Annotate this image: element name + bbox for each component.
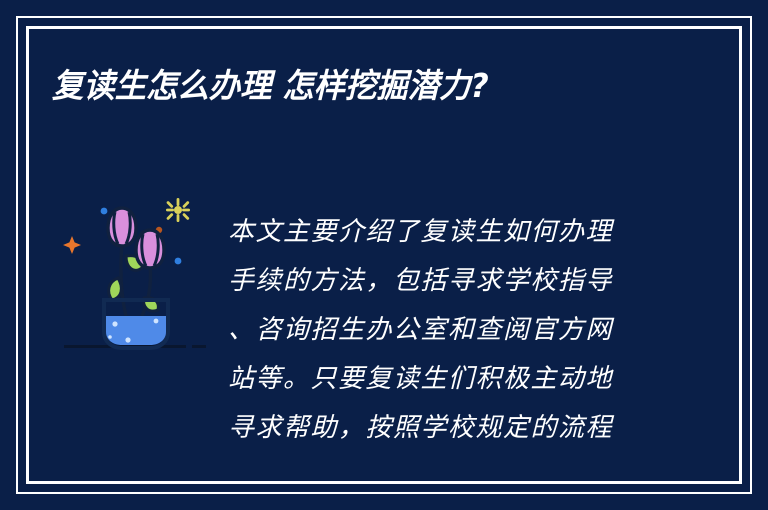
star-orange-icon	[63, 236, 81, 254]
body-line: 本文主要介绍了复读生如何办理	[228, 208, 658, 257]
page-title: 复读生怎么办理 怎样挖掘潜力?	[52, 66, 679, 106]
flowers-in-vase-illustration	[58, 188, 228, 373]
tulip-flower-icon	[136, 230, 164, 268]
body-line: 站等。只要复读生们积极主动地	[228, 355, 658, 404]
body-line: 寻求帮助，按照学校规定的流程	[228, 404, 658, 453]
sparkle-burst-icon	[166, 198, 190, 222]
tulip-flower-icon	[108, 208, 136, 246]
body-line: 手续的方法，包括寻求学校指导	[228, 257, 658, 306]
body-paragraph: 本文主要介绍了复读生如何办理 手续的方法，包括寻求学校指导 、咨询招生办公室和查…	[228, 208, 658, 453]
poster-canvas: 复读生怎么办理 怎样挖掘潜力?	[0, 0, 768, 510]
body-line: 、咨询招生办公室和查阅官方网	[228, 306, 658, 355]
